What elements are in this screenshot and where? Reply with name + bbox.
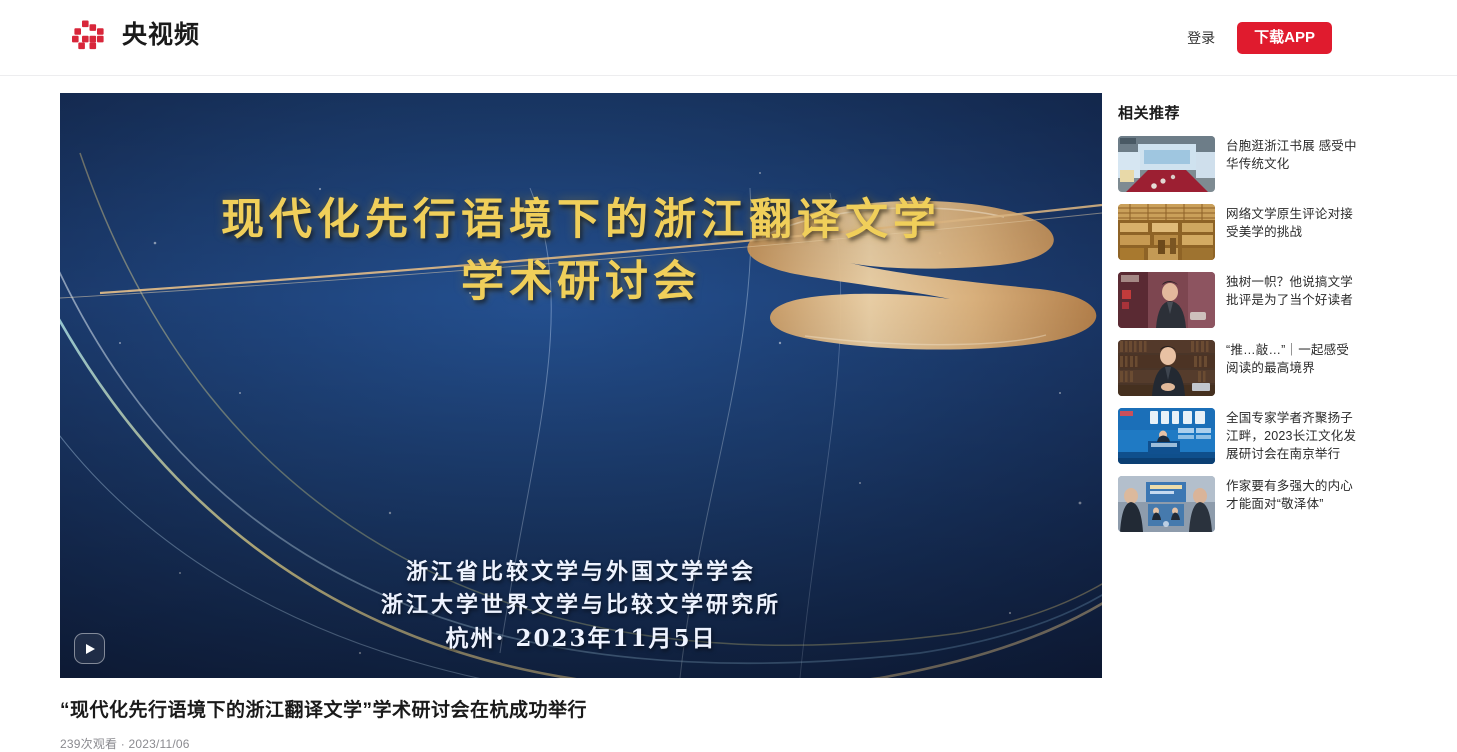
list-item-title: “推…敲…”｜一起感受阅读的最高境界 xyxy=(1226,340,1358,396)
play-button[interactable] xyxy=(74,633,105,664)
cctv-video-dots-logo-icon xyxy=(72,20,108,50)
page-body: 现代化先行语境下的浙江翻译文学 学术研讨会 浙江省比较文学与外国文学学会 浙江大… xyxy=(0,76,1457,743)
thumbnail-man-speaking-maroon-stage xyxy=(1118,272,1215,328)
thumbnail-blue-conference-stage-2023-changjiang xyxy=(1118,408,1215,464)
video-player[interactable]: 现代化先行语境下的浙江翻译文学 学术研讨会 浙江省比较文学与外国文学学会 浙江大… xyxy=(60,93,1102,678)
brand-name: 央视频 xyxy=(122,20,200,50)
video-title: “现代化先行语境下的浙江翻译文学”学术研讨会在杭成功举行 xyxy=(60,698,1102,724)
play-triangle-icon xyxy=(86,644,95,654)
download-app-button[interactable]: 下载APP xyxy=(1237,22,1332,54)
list-item-title: 作家要有多强大的内心才能面对“敬泽体” xyxy=(1226,476,1358,532)
related-recommendations-panel: 相关推荐 台胞逛浙江书展 感受中华传统 xyxy=(1118,102,1358,544)
video-column: 现代化先行语境下的浙江翻译文学 学术研讨会 浙江省比较文学与外国文学学会 浙江大… xyxy=(60,93,1102,752)
list-item-title: 网络文学原生评论对接受美学的挑战 xyxy=(1226,204,1358,260)
thumbnail-book-fair-entrance-red-carpet xyxy=(1118,136,1215,192)
related-recommendations-title: 相关推荐 xyxy=(1118,102,1358,123)
thumbnail-man-in-library-bookshelves xyxy=(1118,340,1215,396)
list-item-title: 独树一帜？他说搞文学批评是为了当个好读者 xyxy=(1226,272,1358,328)
list-item-title: 台胞逛浙江书展 感受中华传统文化 xyxy=(1226,136,1358,192)
list-item[interactable]: 全国专家学者齐聚扬子江畔，2023长江文化发展研讨会在南京举行 xyxy=(1118,408,1358,464)
list-item[interactable]: 台胞逛浙江书展 感受中华传统文化 xyxy=(1118,136,1358,192)
login-button[interactable]: 登录 xyxy=(1187,22,1215,54)
video-poster xyxy=(60,93,1102,678)
thumbnail-tv-studio-two-hosts xyxy=(1118,476,1215,532)
list-item[interactable]: 独树一帜？他说搞文学批评是为了当个好读者 xyxy=(1118,272,1358,328)
list-item-title: 全国专家学者齐聚扬子江畔，2023长江文化发展研讨会在南京举行 xyxy=(1226,408,1358,464)
video-meta: 239次观看 · 2023/11/06 xyxy=(60,735,1102,752)
list-item[interactable]: 作家要有多强大的内心才能面对“敬泽体” xyxy=(1118,476,1358,532)
thumbnail-bookstore-interior-golden-shelves xyxy=(1118,204,1215,260)
list-item[interactable]: 网络文学原生评论对接受美学的挑战 xyxy=(1118,204,1358,260)
list-item[interactable]: “推…敲…”｜一起感受阅读的最高境界 xyxy=(1118,340,1358,396)
site-header: 央视频 登录 下载APP xyxy=(0,0,1457,76)
header-actions: 登录 下载APP xyxy=(1187,22,1332,54)
brand-logo-link[interactable]: 央视频 xyxy=(72,20,200,50)
